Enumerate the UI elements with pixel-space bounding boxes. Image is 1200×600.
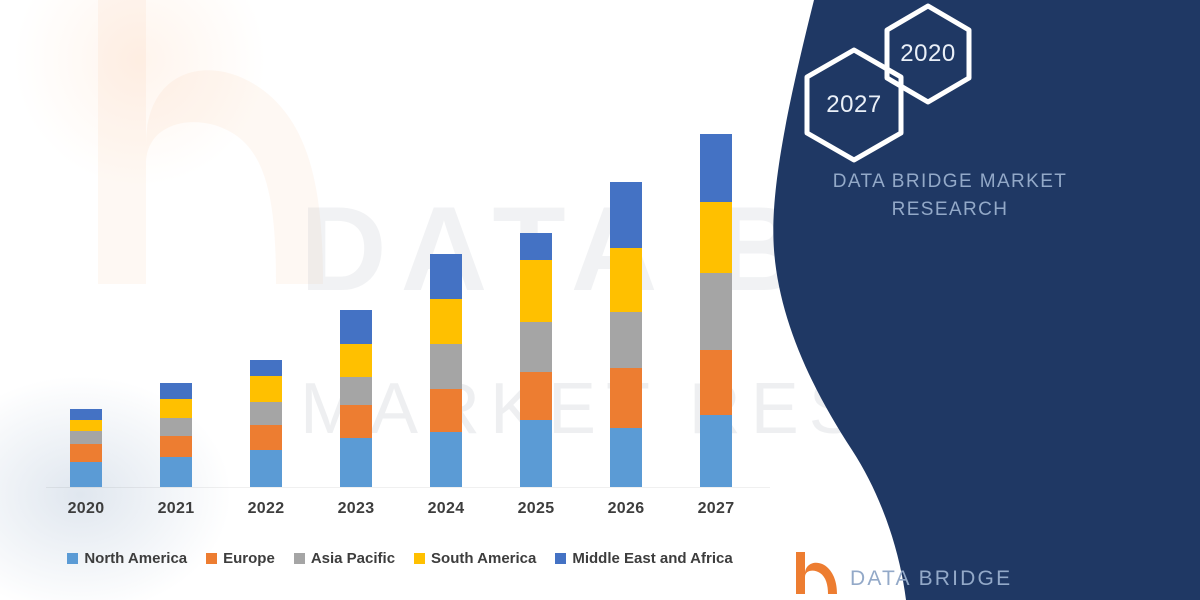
bar-segment-north-america xyxy=(160,457,192,487)
bar-segment-north-america xyxy=(340,438,372,487)
legend-label: Asia Pacific xyxy=(311,550,395,567)
brand-line-2: RESEARCH xyxy=(770,196,1130,224)
bar-segment-europe xyxy=(610,368,642,428)
bar-2024 xyxy=(430,254,462,487)
bar-2021 xyxy=(160,383,192,487)
legend-item-south-america[interactable]: South America xyxy=(414,550,536,567)
hexagon-2020-label: 2020 xyxy=(882,2,974,106)
bar-2020 xyxy=(70,409,102,487)
legend-label: Middle East and Africa xyxy=(572,550,732,567)
bridge-logo-icon xyxy=(794,552,840,594)
legend-item-europe[interactable]: Europe xyxy=(206,550,275,567)
logo-wordmark: DATA BRIDGE xyxy=(850,567,1012,594)
bar-segment-europe xyxy=(430,389,462,433)
bar-segment-asia-pacific xyxy=(430,344,462,389)
screenshot-canvas: DATA BR MARKET RESEARCH 2020202120222023… xyxy=(0,0,1200,600)
bar-segment-middle-east-and-africa xyxy=(430,254,462,299)
bar-segment-middle-east-and-africa xyxy=(340,310,372,345)
brand-panel-content: 2027 2020 DATA BRIDGE MARKET RESEARCH DA… xyxy=(770,0,1200,600)
bar-segment-south-america xyxy=(250,376,282,402)
legend-label: Europe xyxy=(223,550,275,567)
bar-segment-asia-pacific xyxy=(340,377,372,406)
stacked-bar-chart: 20202021202220232024202520262027 North A… xyxy=(0,0,820,600)
legend-swatch-icon xyxy=(67,553,78,564)
bar-segment-middle-east-and-africa xyxy=(520,233,552,260)
x-tick-2020: 2020 xyxy=(46,500,126,518)
x-tick-2027: 2027 xyxy=(676,500,756,518)
bar-segment-asia-pacific xyxy=(700,273,732,350)
bar-segment-middle-east-and-africa xyxy=(70,409,102,420)
bar-segment-middle-east-and-africa xyxy=(160,383,192,399)
bar-segment-europe xyxy=(700,350,732,415)
bar-segment-south-america xyxy=(700,202,732,273)
bar-2027 xyxy=(700,134,732,487)
x-tick-2024: 2024 xyxy=(406,500,486,518)
bar-segment-europe xyxy=(70,444,102,462)
bar-segment-north-america xyxy=(250,450,282,487)
legend-label: North America xyxy=(84,550,187,567)
bar-segment-asia-pacific xyxy=(160,418,192,436)
bar-segment-asia-pacific xyxy=(610,312,642,368)
bar-2025 xyxy=(520,233,552,487)
x-tick-2022: 2022 xyxy=(226,500,306,518)
bar-segment-north-america xyxy=(430,432,462,487)
bar-segment-north-america xyxy=(700,415,732,487)
bar-segment-asia-pacific xyxy=(520,322,552,372)
bar-segment-asia-pacific xyxy=(250,402,282,425)
bar-segment-middle-east-and-africa xyxy=(610,182,642,248)
bar-segment-europe xyxy=(520,372,552,420)
bar-segment-middle-east-and-africa xyxy=(250,360,282,376)
legend-swatch-icon xyxy=(414,553,425,564)
legend-item-north-america[interactable]: North America xyxy=(67,550,187,567)
brand-line-1: DATA BRIDGE MARKET xyxy=(770,168,1130,196)
bar-segment-middle-east-and-africa xyxy=(700,134,732,202)
bar-segment-south-america xyxy=(430,299,462,344)
bar-segment-south-america xyxy=(70,420,102,431)
bar-segment-europe xyxy=(340,405,372,437)
bar-segment-europe xyxy=(250,425,282,450)
bar-segment-north-america xyxy=(610,428,642,487)
bar-segment-north-america xyxy=(520,420,552,487)
legend-swatch-icon xyxy=(206,553,217,564)
bar-segment-south-america xyxy=(520,260,552,322)
chart-legend: North AmericaEuropeAsia PacificSouth Ame… xyxy=(0,550,800,567)
data-bridge-logo: DATA BRIDGE xyxy=(794,552,1012,594)
bar-segment-south-america xyxy=(610,248,642,312)
bar-2022 xyxy=(250,360,282,487)
x-tick-2021: 2021 xyxy=(136,500,216,518)
bar-segment-south-america xyxy=(160,399,192,418)
legend-label: South America xyxy=(431,550,536,567)
x-tick-2023: 2023 xyxy=(316,500,396,518)
brand-name: DATA BRIDGE MARKET RESEARCH xyxy=(770,168,1130,223)
bar-segment-asia-pacific xyxy=(70,431,102,444)
legend-item-asia-pacific[interactable]: Asia Pacific xyxy=(294,550,395,567)
bar-segment-europe xyxy=(160,436,192,457)
x-tick-2025: 2025 xyxy=(496,500,576,518)
hexagon-2020: 2020 xyxy=(882,2,974,106)
bar-segment-north-america xyxy=(70,462,102,487)
x-axis-tick-labels: 20202021202220232024202520262027 xyxy=(0,500,820,524)
bar-segment-south-america xyxy=(340,344,372,376)
x-tick-2026: 2026 xyxy=(586,500,666,518)
bar-2023 xyxy=(340,310,372,488)
legend-item-middle-east-and-africa[interactable]: Middle East and Africa xyxy=(555,550,732,567)
bar-2026 xyxy=(610,182,642,487)
legend-swatch-icon xyxy=(555,553,566,564)
legend-swatch-icon xyxy=(294,553,305,564)
